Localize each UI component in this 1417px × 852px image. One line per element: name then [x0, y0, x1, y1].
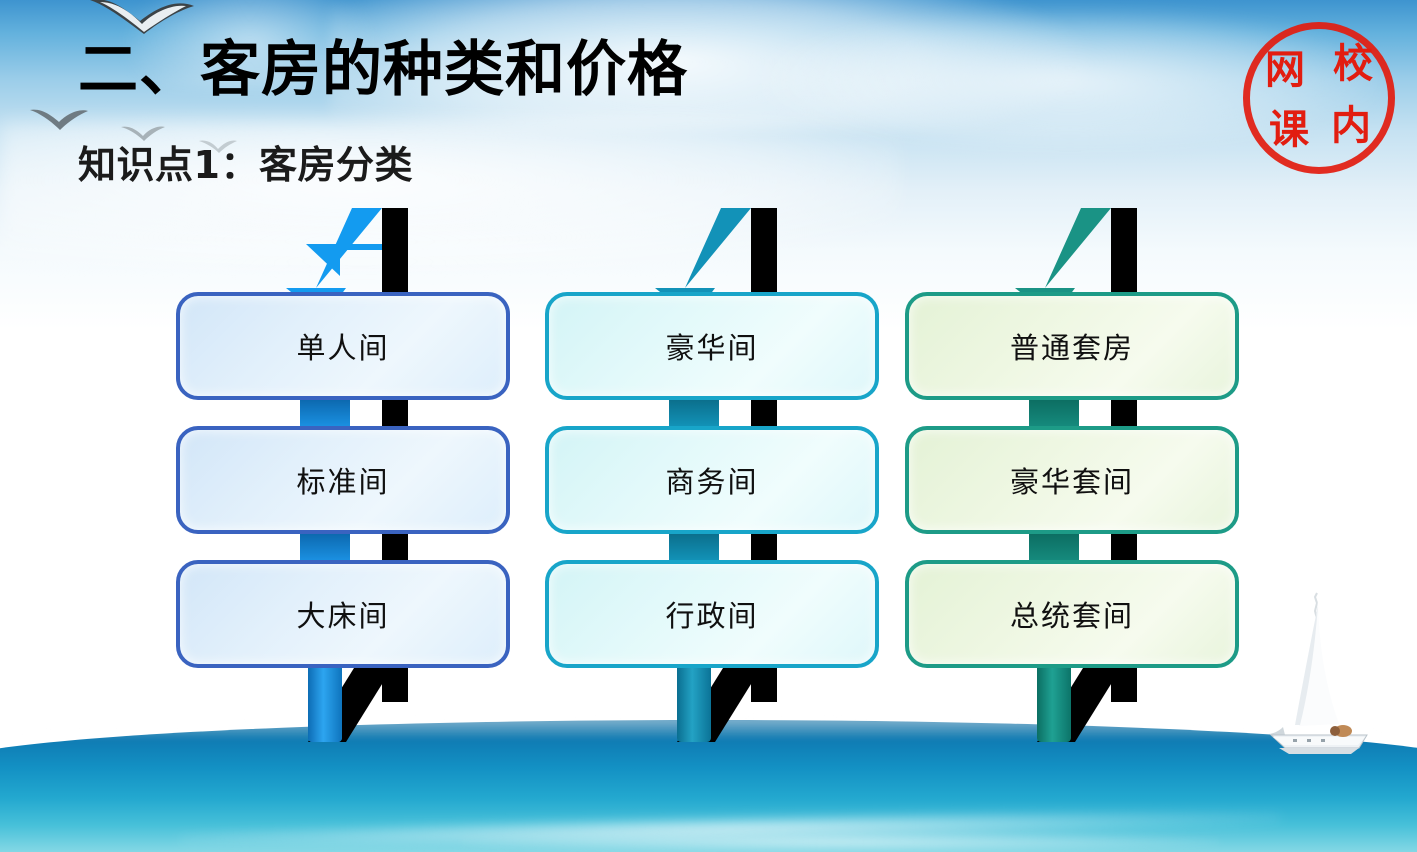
slide-canvas: 二、客房的种类和价格 知识点1：客房分类 网 校 课 内 — [0, 0, 1417, 852]
flow-node[interactable]: 标准间 — [176, 426, 510, 534]
flow-node[interactable]: 豪华间 — [545, 292, 879, 400]
flow-node[interactable]: 行政间 — [545, 560, 879, 668]
flow-column-3: 普通套房 豪华套间 总统套间 — [905, 0, 1245, 852]
flow-node[interactable]: 普通套房 — [905, 292, 1239, 400]
flow-node[interactable]: 单人间 — [176, 292, 510, 400]
flow-node[interactable]: 豪华套间 — [905, 426, 1239, 534]
flow-node[interactable]: 商务间 — [545, 426, 879, 534]
flow-node[interactable]: 总统套间 — [905, 560, 1239, 668]
flow-column-1: 单人间 标准间 大床间 — [176, 0, 516, 852]
flow-diagram: 单人间 标准间 大床间 — [0, 0, 1417, 852]
flow-column-2: 豪华间 商务间 行政间 — [545, 0, 885, 852]
flow-node[interactable]: 大床间 — [176, 560, 510, 668]
